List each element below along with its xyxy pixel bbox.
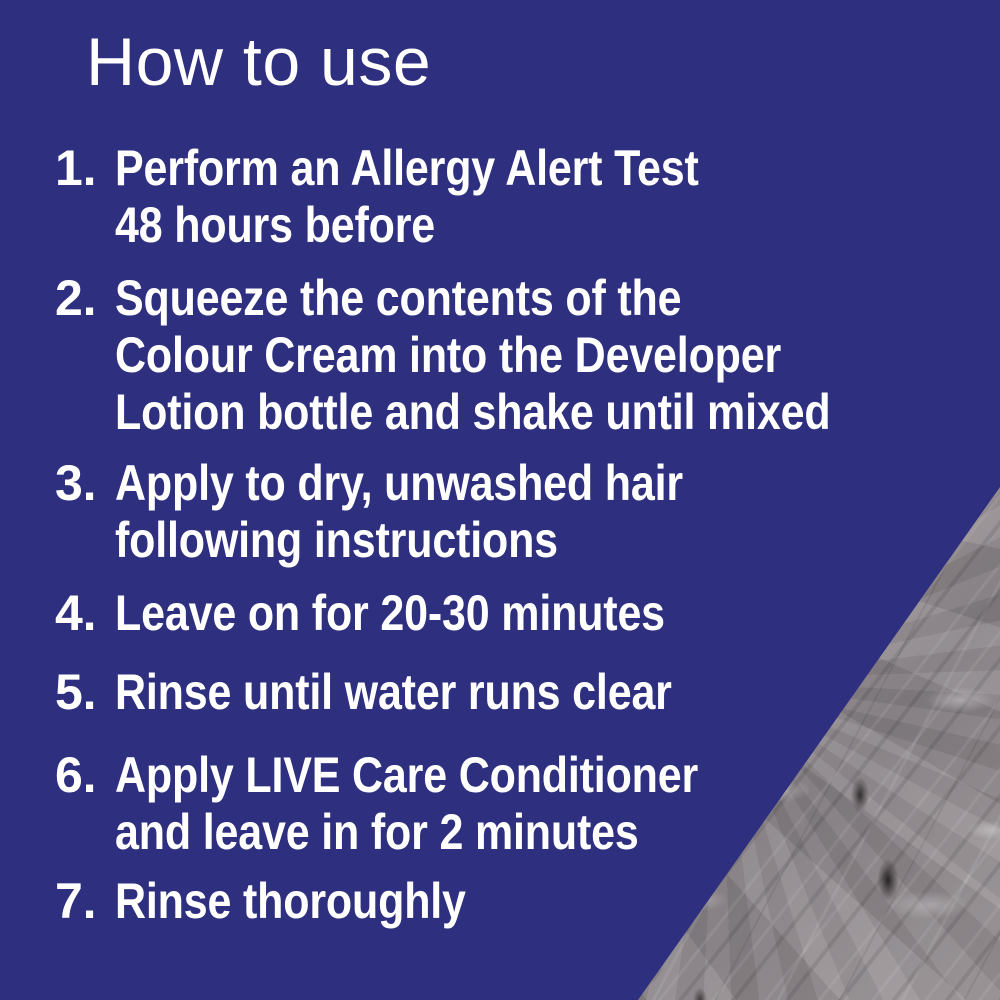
step-item: 2.Squeeze the contents of theColour Crea… [0,270,960,441]
step-item: 3.Apply to dry, unwashed hairfollowing i… [0,455,960,569]
instruction-panel: How to use 1.Perform an Allergy Alert Te… [0,0,1000,1000]
step-item: 1.Perform an Allergy Alert Test48 hours … [0,140,960,254]
step-number: 1. [0,140,115,197]
step-text-line: Rinse until water runs clear [115,664,842,721]
step-text-line: Lotion bottle and shake until mixed [115,384,842,441]
step-text-line: and leave in for 2 minutes [115,804,842,861]
how-to-use-steps-list: 1.Perform an Allergy Alert Test48 hours … [0,140,960,946]
step-text: Apply LIVE Care Conditionerand leave in … [115,747,842,861]
step-text-line: 48 hours before [115,197,842,254]
step-text: Perform an Allergy Alert Test48 hours be… [115,140,842,254]
step-number: 2. [0,270,115,327]
step-text: Leave on for 20-30 minutes [115,585,842,642]
step-item: 4.Leave on for 20-30 minutes [0,585,960,642]
step-text-line: following instructions [115,512,842,569]
step-text-line: Leave on for 20-30 minutes [115,585,842,642]
step-text-line: Apply to dry, unwashed hair [115,455,842,512]
step-text: Rinse thoroughly [115,873,842,930]
step-item: 6.Apply LIVE Care Conditionerand leave i… [0,747,960,861]
step-number: 4. [0,585,115,642]
page-title: How to use [86,28,431,96]
step-number: 7. [0,873,115,930]
step-number: 6. [0,747,115,804]
step-text: Rinse until water runs clear [115,664,842,721]
step-text-line: Rinse thoroughly [115,873,842,930]
step-text-line: Colour Cream into the Developer [115,327,842,384]
step-item: 5.Rinse until water runs clear [0,664,960,721]
step-text-line: Squeeze the contents of the [115,270,842,327]
step-text-line: Apply LIVE Care Conditioner [115,747,842,804]
step-text: Apply to dry, unwashed hairfollowing ins… [115,455,842,569]
step-text: Squeeze the contents of theColour Cream … [115,270,842,441]
step-item: 7.Rinse thoroughly [0,873,960,930]
step-number: 3. [0,455,115,512]
step-number: 5. [0,664,115,721]
step-text-line: Perform an Allergy Alert Test [115,140,842,197]
